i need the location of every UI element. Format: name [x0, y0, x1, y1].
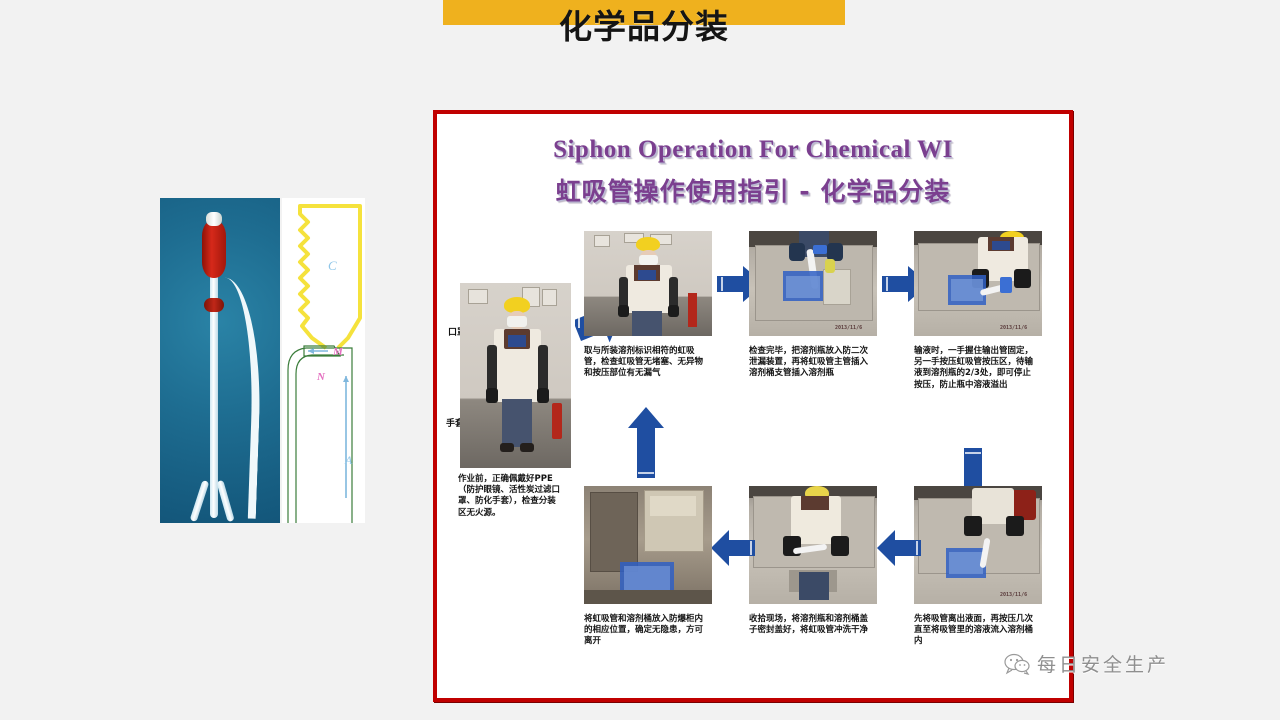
step-2-caption: 取与所装溶剂标识相符的虹吸管，检查虹吸管无堵塞、无异物和按压部位有无漏气 — [584, 346, 706, 380]
arrow-step7-to-step2 — [627, 406, 665, 478]
siphon-pump-photo — [160, 198, 280, 523]
siphon-bulb-knot — [204, 298, 224, 312]
siphon-red-bulb — [202, 220, 226, 278]
watermark-text: 每日安全生产 — [1037, 650, 1169, 677]
step-7-caption: 将虹吸管和溶剂桶放入防爆柜内的相应位置，确定无隐患，方可离开 — [584, 614, 706, 648]
step-6-photo — [749, 486, 877, 604]
siphon-illustration: C M N A — [160, 198, 365, 523]
siphon-bulb-cap — [206, 212, 222, 226]
page-title: 化学品分装 — [443, 0, 845, 50]
schematic-label-a: A — [345, 453, 352, 468]
siphon-main-tube — [210, 236, 218, 518]
flexible-yellow-tube — [300, 206, 342, 348]
schematic-label-c: C — [328, 258, 337, 274]
step-2-photo — [584, 231, 712, 336]
step-1-photo — [460, 283, 571, 468]
siphon-operation-poster: Siphon Operation For Chemical WI 虹吸管操作使用… — [433, 110, 1073, 702]
step-4-timestamp: 2013/11/6 — [1000, 325, 1027, 331]
schematic-label-m: M — [333, 346, 343, 358]
poster-inner-area: Siphon Operation For Chemical WI 虹吸管操作使用… — [441, 118, 1065, 694]
schematic-label-n: N — [317, 371, 325, 383]
step-4-photo: 2013/11/6 — [914, 231, 1042, 336]
step-7-photo — [584, 486, 712, 604]
flow-arrow-left-head — [308, 348, 314, 354]
step-5-caption: 先将吸管离出液面，再按压几次直至将吸管里的溶液流入溶剂桶内 — [914, 614, 1038, 648]
step-4-caption: 输液时，一手握住输出管固定，另一手按压虹吸管按压区，待输液到溶剂瓶的2/3处，即… — [914, 346, 1038, 391]
flexible-yellow-tube-right — [338, 206, 360, 348]
schematic-svg — [282, 198, 365, 523]
step-1-caption: 作业前，正确佩戴好PPE（防护眼镜、活性炭过滤口罩、防化手套），检查分装区无火源… — [458, 474, 564, 519]
step-6-caption: 收拾现场，将溶剂瓶和溶剂桶盖子密封盖好，将虹吸管冲洗干净 — [749, 614, 871, 636]
step-3-photo: 2013/11/6 — [749, 231, 877, 336]
flow-arrow-up-head — [343, 376, 349, 382]
arrow-step5-to-step6 — [877, 530, 921, 566]
poster-title-chinese: 虹吸管操作使用指引 - 化学品分装 — [441, 172, 1065, 208]
step-3-caption: 检查完毕，把溶剂瓶放入防二次泄漏装置，再将虹吸管主管插入溶剂桶支管插入溶剂瓶 — [749, 346, 871, 380]
watermark: 每日安全生产 — [1004, 650, 1169, 677]
poster-title-english: Siphon Operation For Chemical WI — [441, 136, 1065, 164]
siphon-schematic-diagram: C M N A — [282, 198, 365, 523]
step-5-timestamp: 2013/11/6 — [1000, 592, 1027, 598]
step-3-timestamp: 2013/11/6 — [835, 325, 862, 331]
arrow-step6-to-step7 — [711, 530, 755, 566]
wechat-bubble-icon — [1004, 653, 1030, 675]
step-5-photo: 2013/11/6 — [914, 486, 1042, 604]
